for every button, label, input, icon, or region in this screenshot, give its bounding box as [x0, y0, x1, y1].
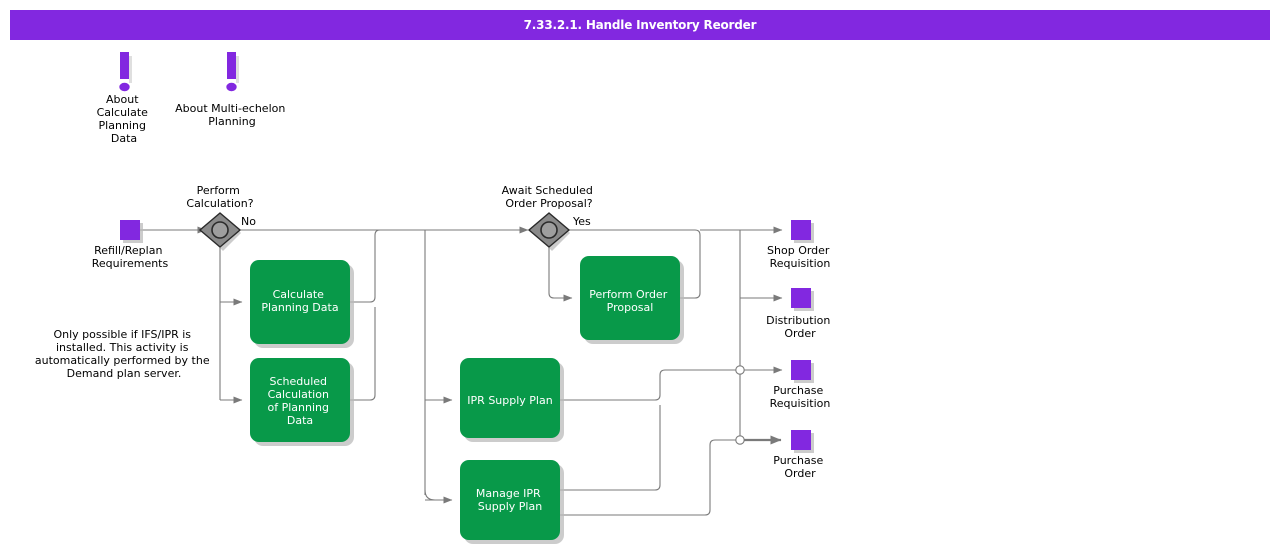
terminator-label: Refill/Replan Requirements: [92, 244, 169, 270]
edge-manage-ipr-out-upper: [560, 405, 660, 490]
terminator-label: Distribution Order: [766, 314, 834, 340]
junction-dot: [736, 436, 744, 444]
activity-calculate-planning-data[interactable]: Calculate Planning Data: [250, 260, 354, 348]
edge-mid-trunk-elbow: [425, 490, 435, 500]
edge-manage-ipr-out-lower: [560, 440, 740, 515]
edge-await-to-perform-order-proposal: [549, 244, 572, 298]
note-calculate-planning-data[interactable]: About Calculate Planning Data: [97, 52, 152, 145]
terminator-shop-order-requisition[interactable]: Shop Order Requisition: [767, 220, 833, 270]
exclamation-icon: [226, 52, 239, 91]
terminator-label: Shop Order Requisition: [767, 244, 833, 270]
activity-label: Calculate Planning Data: [261, 288, 338, 314]
activity-label: Manage IPR Supply Plan: [476, 487, 544, 513]
flowchart-canvas: About Calculate Planning Data About Mult…: [0, 0, 1280, 550]
edge-ipr-supply-plan-out: [560, 370, 740, 400]
note-label: About Multi-echelon Planning: [175, 102, 289, 128]
terminator-refill-replan-requirements[interactable]: Refill/Replan Requirements: [92, 220, 169, 270]
edge-calculate-planning-data-out: [350, 230, 380, 302]
decision-label: Perform Calculation?: [186, 184, 253, 210]
exclamation-icon: [119, 52, 132, 91]
decision-branch-label: Yes: [572, 215, 591, 228]
activity-ipr-supply-plan[interactable]: IPR Supply Plan: [460, 358, 564, 442]
decision-await-scheduled-order-proposal[interactable]: Await Scheduled Order Proposal? Yes: [502, 184, 597, 251]
note-label: About Calculate Planning Data: [97, 93, 152, 145]
terminator-label: Purchase Requisition: [770, 384, 831, 410]
note-multi-echelon-planning[interactable]: About Multi-echelon Planning: [175, 52, 289, 128]
terminator-label: Purchase Order: [773, 454, 826, 480]
terminator-purchase-requisition[interactable]: Purchase Requisition: [770, 360, 831, 410]
activity-manage-ipr-supply-plan[interactable]: Manage IPR Supply Plan: [460, 460, 564, 544]
terminator-distribution-order[interactable]: Distribution Order: [766, 288, 834, 340]
activity-perform-order-proposal[interactable]: Perform Order Proposal: [580, 256, 684, 344]
activity-label: IPR Supply Plan: [467, 394, 552, 407]
junction-dot: [736, 366, 744, 374]
decision-perform-calculation[interactable]: Perform Calculation? No: [186, 184, 256, 251]
activity-scheduled-calculation-of-planning-data[interactable]: Scheduled Calculation of Planning Data: [250, 358, 354, 446]
terminator-purchase-order[interactable]: Purchase Order: [773, 430, 826, 480]
decision-branch-label: No: [241, 215, 256, 228]
annotation-ifs-ipr: Only possible if IFS/IPR is installed. T…: [35, 328, 213, 380]
decision-label: Await Scheduled Order Proposal?: [502, 184, 597, 210]
